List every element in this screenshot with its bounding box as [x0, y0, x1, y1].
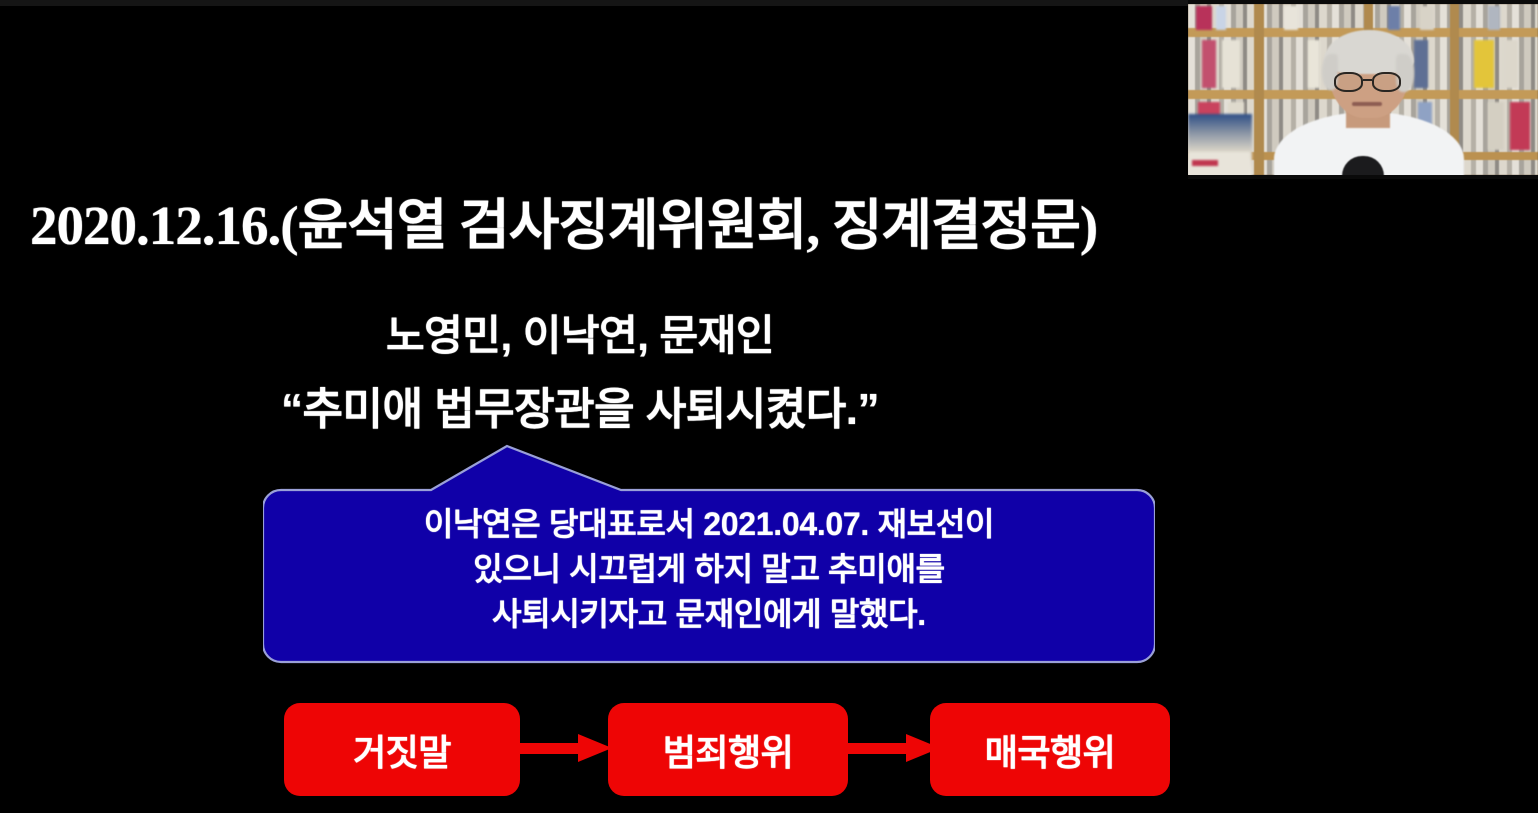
book-spine: [1488, 102, 1504, 150]
flow-box-crime: 범죄행위: [608, 703, 848, 796]
book-spine: [1388, 6, 1400, 30]
arrow-head: [578, 734, 612, 762]
book-spine: [1510, 102, 1530, 150]
arrow-right-icon: [848, 734, 940, 762]
callout-balloon: 이낙연은 당대표로서 2021.04.07. 재보선이 있으니 시끄럽게 하지 …: [263, 436, 1155, 664]
book-spine: [1284, 6, 1298, 30]
book-spine: [1414, 40, 1428, 88]
callout-text-line-2: 있으니 시끄럽게 하지 말고 추미애를: [263, 547, 1155, 592]
arrow-shaft: [848, 743, 910, 754]
person-mouth: [1352, 102, 1382, 106]
glasses-bridge: [1363, 79, 1372, 81]
page-title: 2020.12.16.(윤석열 검사징계위원회, 징계결정문): [30, 192, 1170, 260]
flow-box-treason: 매국행위: [930, 703, 1170, 796]
glasses-lens-left: [1334, 72, 1363, 92]
webcam-overlay[interactable]: [1188, 0, 1538, 179]
webcam-video-frame: [1188, 4, 1538, 175]
book-spine: [1420, 6, 1434, 30]
book-spine: [1504, 40, 1518, 88]
book-spine: [1488, 6, 1500, 30]
names-line: 노영민, 이낙연, 문재인: [0, 310, 1160, 362]
callout-text-line-1: 이낙연은 당대표로서 2021.04.07. 재보선이: [263, 502, 1155, 547]
arrow-shaft: [520, 743, 582, 754]
book-spine: [1202, 40, 1216, 88]
book-spine: [1196, 6, 1212, 30]
book-spine: [1474, 40, 1494, 88]
quote-line: “추미애 법무장관을 사퇴시켰다.”: [0, 382, 1160, 438]
book-spine: [1222, 40, 1240, 88]
glasses-lens-right: [1372, 72, 1401, 92]
book-spine: [1216, 6, 1226, 30]
arrow-right-icon: [520, 734, 612, 762]
book-spine: [1308, 40, 1320, 88]
callout-text-line-3: 사퇴시키자고 문재인에게 말했다.: [263, 592, 1155, 637]
callout-text-block: 이낙연은 당대표로서 2021.04.07. 재보선이 있으니 시끄럽게 하지 …: [263, 502, 1155, 637]
flow-box-lie: 거짓말: [284, 703, 520, 796]
paper-pile-accent: [1192, 160, 1218, 166]
slide-stage: 2020.12.16.(윤석열 검사징계위원회, 징계결정문) 노영민, 이낙연…: [0, 0, 1538, 813]
